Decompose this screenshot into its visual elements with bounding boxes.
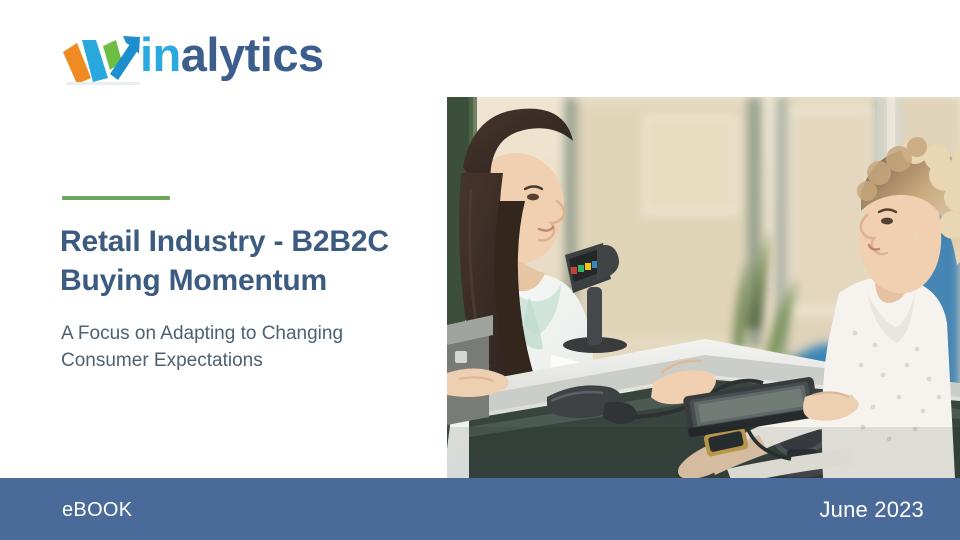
page-subtitle-line-1: A Focus on Adapting to Changing (61, 320, 431, 347)
green-accent-rule (62, 196, 170, 200)
page-title: Retail Industry - B2B2C Buying Momentum (60, 222, 440, 300)
footer-bar: eBOOK June 2023 (0, 478, 960, 540)
wordmark-alytics: alytics (181, 28, 324, 81)
winalytics-logo[interactable]: inalytics (60, 26, 324, 90)
retail-checkout-photo (447, 97, 960, 478)
page-title-line-1: Retail Industry - B2B2C (60, 222, 440, 261)
wordmark-in: in (140, 28, 181, 81)
footer-date: June 2023 (819, 497, 924, 523)
page-subtitle: A Focus on Adapting to Changing Consumer… (61, 320, 431, 374)
page-title-line-2: Buying Momentum (60, 261, 440, 300)
page-subtitle-line-2: Consumer Expectations (61, 347, 431, 374)
ebook-cover-slide: inalytics Retail Industry - B2B2C Buying… (0, 0, 960, 540)
winalytics-wordmark: inalytics (140, 26, 324, 84)
winalytics-logo-mark-icon (60, 26, 146, 88)
footer-label: eBOOK (62, 498, 132, 522)
logo-underline (66, 82, 140, 85)
